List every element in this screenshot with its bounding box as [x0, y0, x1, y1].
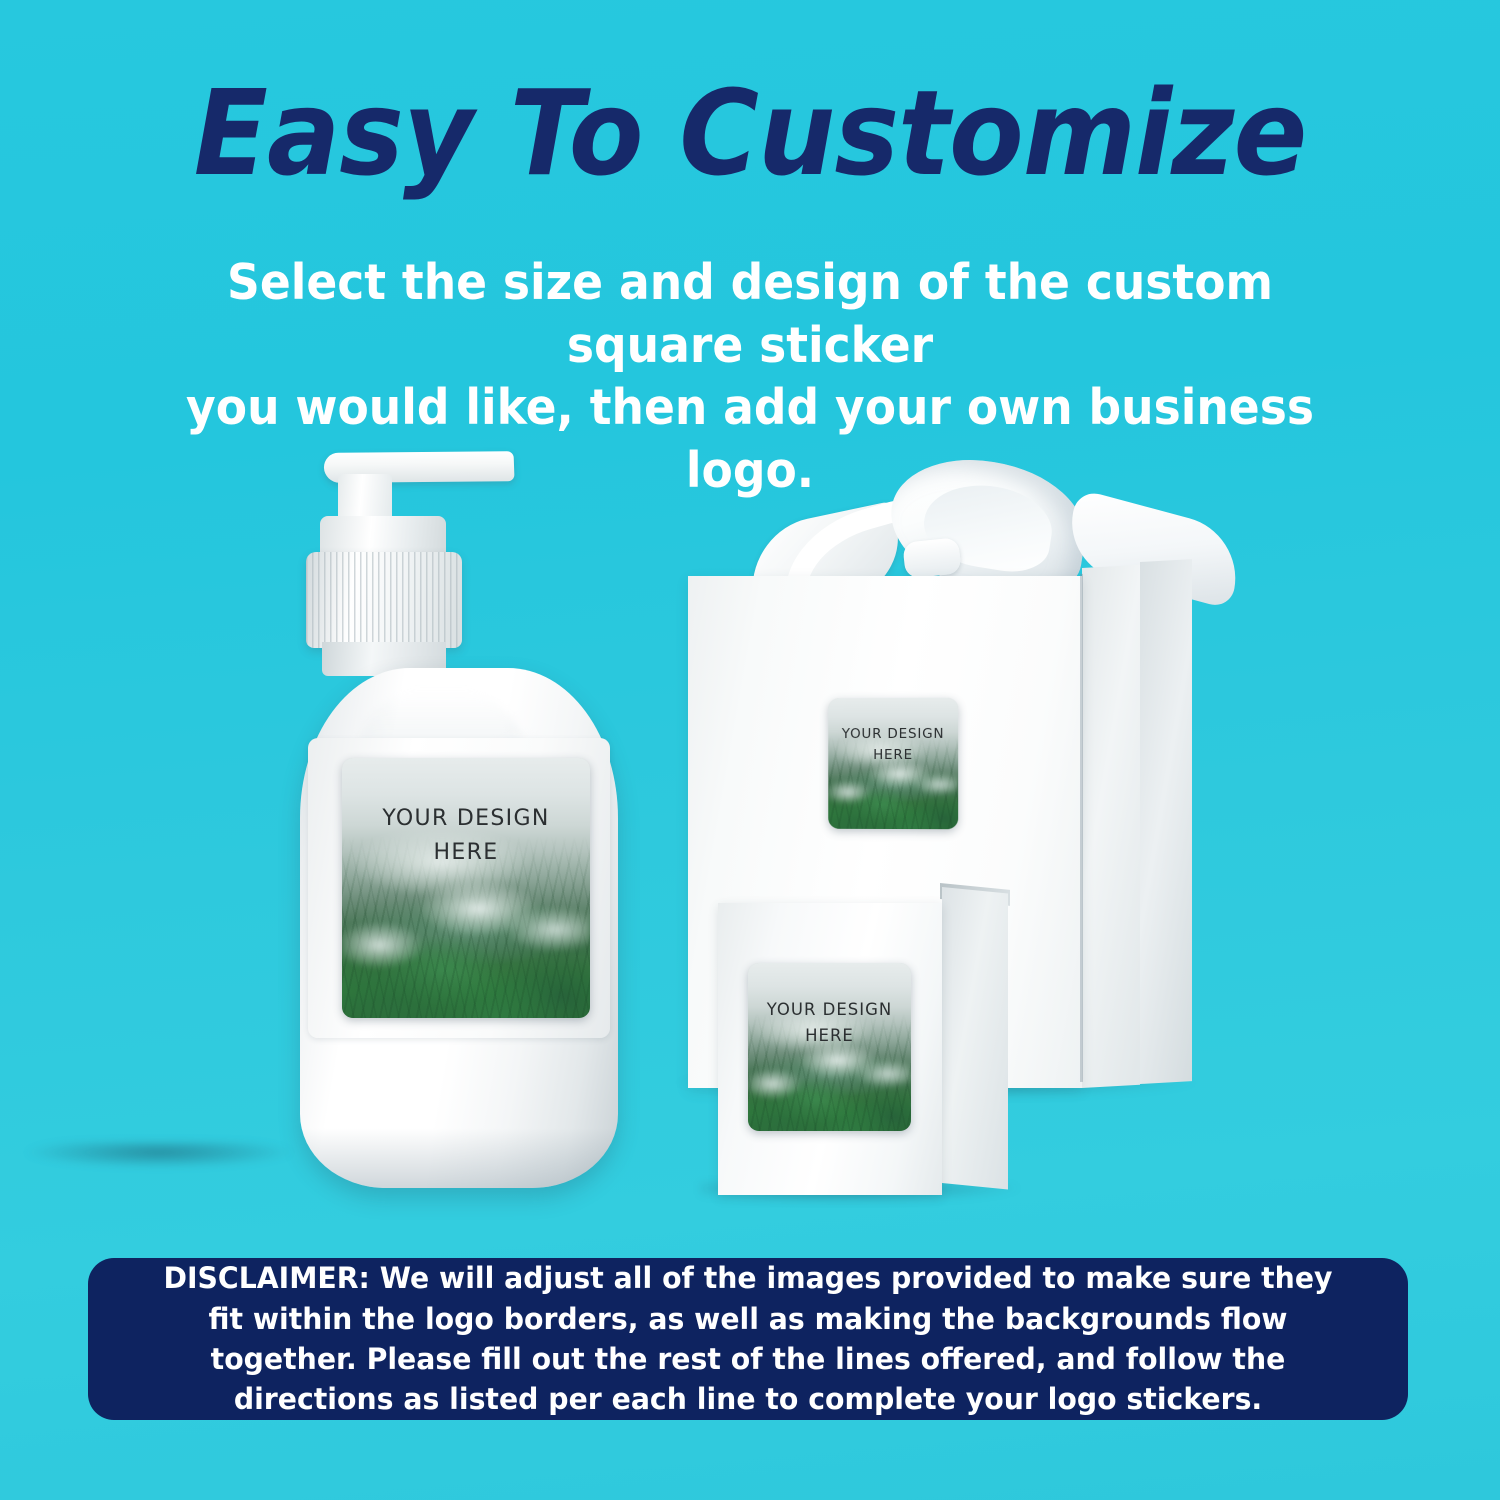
ribbon-knot-icon [902, 537, 961, 579]
small-product-box: YOUR DESIGN HERE [718, 895, 1010, 1200]
sticker-caption-line-2: HERE [828, 745, 958, 766]
subtitle-line-1: Select the size and design of the custom… [155, 252, 1345, 377]
sticker-caption-line-1: YOUR DESIGN [748, 997, 911, 1023]
disclaimer-label: DISCLAIMER: [163, 1261, 369, 1295]
gift-box-side-panel [1082, 565, 1140, 1088]
sticker-on-small-box: YOUR DESIGN HERE [748, 963, 911, 1131]
gift-box-seam [1080, 574, 1083, 1082]
bottle-bottom-shading [300, 1128, 618, 1188]
sticker-on-bottle: YOUR DESIGN HERE [342, 758, 590, 1018]
sticker-caption-line-2: HERE [748, 1023, 911, 1049]
product-scene: YOUR DESIGN HERE YOUR DESIGN HERE [0, 390, 1500, 1220]
disclaimer-body: We will adjust all of the images provide… [209, 1261, 1333, 1416]
sticker-caption: YOUR DESIGN HERE [342, 758, 590, 870]
bottle-shadow [22, 1142, 296, 1168]
disclaimer-text: DISCLAIMER: We will adjust all of the im… [148, 1258, 1348, 1420]
small-box-side-panel [942, 887, 1008, 1189]
pump-ribbed-cap [306, 552, 462, 648]
gift-box-back-panel [1140, 559, 1192, 1084]
sticker-caption: YOUR DESIGN HERE [748, 963, 911, 1050]
promo-graphic: Easy To Customize Select the size and de… [0, 0, 1500, 1500]
disclaimer-banner: DISCLAIMER: We will adjust all of the im… [88, 1258, 1408, 1420]
sticker-caption: YOUR DESIGN HERE [828, 698, 958, 766]
pump-bottle: YOUR DESIGN HERE [300, 420, 630, 1210]
sticker-caption-line-1: YOUR DESIGN [342, 802, 590, 836]
sticker-caption-line-2: HERE [342, 836, 590, 870]
page-title: Easy To Customize [60, 74, 1440, 192]
sticker-on-gift-box: YOUR DESIGN HERE [828, 698, 958, 829]
sticker-caption-line-1: YOUR DESIGN [828, 724, 958, 745]
